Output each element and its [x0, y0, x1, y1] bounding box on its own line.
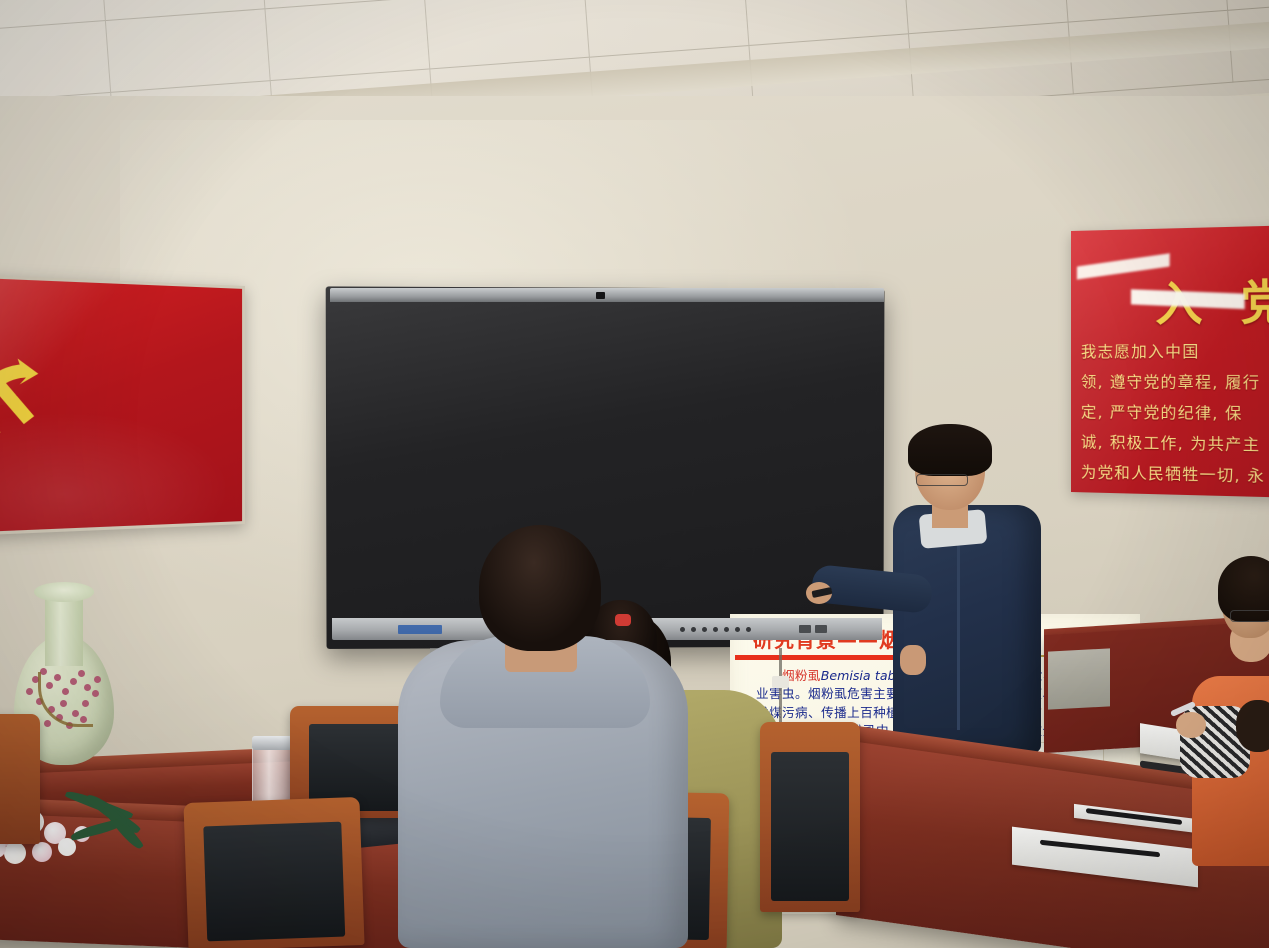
banner-line: 定, 严守党的纪律, 保 [1081, 397, 1269, 431]
display-top-rail [330, 288, 884, 302]
chair-right-empty[interactable] [760, 722, 860, 912]
control-dot[interactable] [680, 627, 685, 632]
camera-icon [596, 292, 605, 299]
vase-neck [45, 598, 83, 666]
control-dot[interactable] [713, 627, 718, 632]
chair-front-left[interactable] [183, 797, 364, 948]
control-dot[interactable] [724, 627, 729, 632]
hair-clip [615, 614, 631, 626]
presenter-zipper [957, 530, 960, 730]
banner-oath-text: 我志愿加入中国 领, 遵守党的章程, 履行 定, 严守党的纪律, 保 诚, 积极… [1081, 336, 1269, 494]
power-cable [779, 648, 782, 732]
control-dot[interactable] [702, 627, 707, 632]
presenter-hand-lower [900, 645, 926, 675]
control-dot[interactable] [746, 627, 751, 632]
glasses-icon-right [1230, 610, 1269, 622]
cpc-party-flag [0, 275, 245, 536]
lectern-side-panel [1048, 648, 1110, 709]
flag-glare [0, 275, 143, 405]
banner-line: 领, 遵守党的章程, 履行 [1081, 367, 1269, 399]
control-dot[interactable] [735, 627, 740, 632]
party-oath-banner: 入 党 我志愿加入中国 领, 遵守党的章程, 履行 定, 严守党的纪律, 保 诚… [1071, 225, 1269, 499]
port[interactable] [815, 625, 827, 633]
banner-line: 我志愿加入中国 [1081, 336, 1269, 368]
port[interactable] [799, 625, 811, 633]
chair-frame [0, 714, 40, 844]
plum-blossom-motif [94, 676, 101, 683]
meeting-room-scene: 入 党 我志愿加入中国 领, 遵守党的章程, 履行 定, 严守党的纪律, 保 诚… [0, 0, 1269, 948]
chair-far-left[interactable] [0, 714, 40, 844]
flag-sheen [0, 405, 242, 535]
io-ports[interactable] [799, 625, 827, 633]
display-bezel [326, 286, 885, 649]
plum-blossom-motif [44, 720, 51, 727]
plum-blossom-motif [26, 688, 33, 695]
chair-upholstery [204, 821, 345, 941]
brand-label [398, 625, 442, 634]
control-buttons[interactable] [680, 627, 751, 632]
presenter-hair [908, 424, 992, 476]
gray-attendee-head [479, 525, 601, 651]
interactive-flat-panel[interactable]: 研究背景——烟粉虱概述 烟粉虱Bemisia tabaci属半翅目、粉虱科，世界… [328, 288, 886, 648]
right-attendee-hand [1176, 712, 1206, 738]
bottle-cap[interactable] [252, 736, 292, 750]
chair-upholstery [771, 752, 849, 900]
glasses-icon [916, 474, 968, 486]
control-dot[interactable] [691, 627, 696, 632]
wall-outlet [772, 676, 789, 688]
far-right-attendee-head [1236, 700, 1269, 752]
flower-bloom [32, 842, 52, 862]
vase-lip [34, 582, 94, 602]
slide-rule-red [735, 655, 915, 660]
flower-bloom [58, 838, 76, 856]
plum-blossom-motif [92, 690, 99, 697]
flower-bloom [4, 842, 26, 864]
